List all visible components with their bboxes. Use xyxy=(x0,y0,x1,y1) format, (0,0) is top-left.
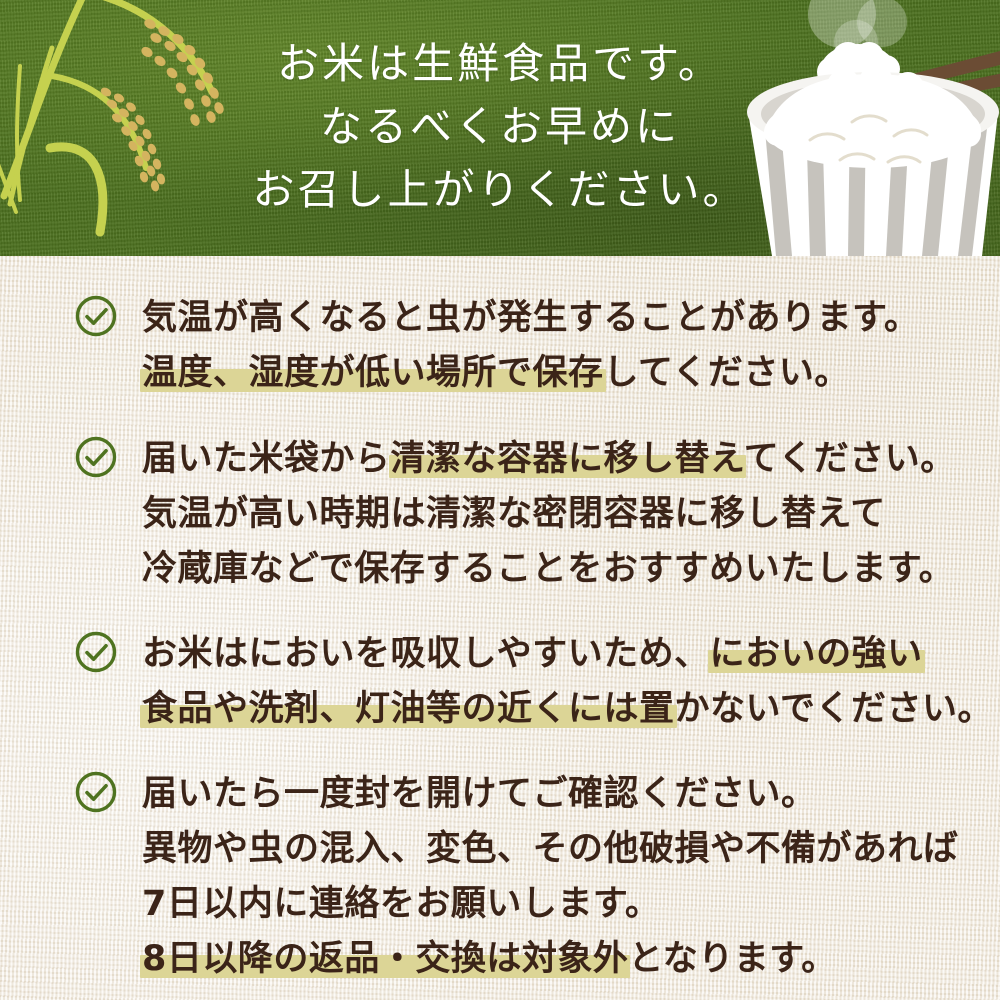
text-segment: 届いた米袋から xyxy=(142,439,391,479)
page-title: お米は生鮮食品です。なるべくお早めにお召し上がりください。 xyxy=(0,32,1000,221)
text-segment: してください。 xyxy=(604,353,850,393)
notice-item-4-line-3: 7日以内に連絡をお願いします。 xyxy=(142,877,974,932)
check-circle-icon xyxy=(74,435,118,479)
notice-item-2: 届いた米袋から清潔な容器に移し替えてください。気温が高い時期は清潔な密閉容器に移… xyxy=(74,401,974,597)
notice-item-1: 気温が高くなると虫が発生することがあります。温度、湿度が低い場所で保存してくださ… xyxy=(74,256,974,401)
notice-item-2-line-3: 冷蔵庫などで保存することをおすすめいたします。 xyxy=(142,542,974,597)
notice-item-3: お米はにおいを吸収しやすいため、においの強い食品や洗剤、灯油等の近くには置かない… xyxy=(74,597,974,737)
text-segment: 7日以内に連絡をお願いします。 xyxy=(142,884,660,924)
notice-item-3-line-1: お米はにおいを吸収しやすいため、においの強い xyxy=(142,627,974,682)
check-circle-icon xyxy=(74,294,118,338)
highlighted-text: 温度、湿度が低い場所で保存 xyxy=(142,353,604,393)
notice-item-3-line-2: 食品や洗剤、灯油等の近くには置かないでください。 xyxy=(142,682,974,737)
notice-item-4-line-1: 届いたら一度封を開けてご確認ください。 xyxy=(142,767,974,822)
header-title-line-2: なるべくお早めに xyxy=(0,95,1000,158)
text-segment: かないでください。 xyxy=(675,689,993,729)
notice-item-4-line-4: 8日以降の返品・交換は対象外となります。 xyxy=(142,932,974,987)
highlighted-text: 食品や洗剤、灯油等の近くには置 xyxy=(142,689,675,729)
check-circle-icon xyxy=(74,630,118,674)
text-segment: 届いたら一度封を開けてご確認ください。 xyxy=(142,774,817,814)
rice-storage-infographic: お米は生鮮食品です。なるべくお早めにお召し上がりください。 気温が高くなると虫が… xyxy=(0,0,1000,1000)
text-segment: てください。 xyxy=(744,439,956,479)
notice-list: 気温が高くなると虫が発生することがあります。温度、湿度が低い場所で保存してくださ… xyxy=(0,256,1000,1000)
text-segment: となります。 xyxy=(628,939,836,979)
text-segment: 気温が高い時期は清潔な密閉容器に移し替えて xyxy=(142,494,886,534)
highlighted-text: 清潔な容器に移し替え xyxy=(391,439,744,479)
notice-item-1-line-1: 気温が高くなると虫が発生することがあります。 xyxy=(142,291,974,346)
highlighted-text: においの強い xyxy=(710,634,923,674)
notice-item-2-line-2: 気温が高い時期は清潔な密閉容器に移し替えて xyxy=(142,487,974,542)
notice-item-4-line-2: 異物や虫の混入、変色、その他破損や不備があれば xyxy=(142,822,974,877)
header-title-line-1: お米は生鮮食品です。 xyxy=(0,32,1000,95)
check-circle-icon xyxy=(74,770,118,814)
text-segment: 異物や虫の混入、変色、その他破損や不備があれば xyxy=(142,829,959,869)
text-segment: 気温が高くなると虫が発生することがあります。 xyxy=(142,298,920,338)
text-segment: 冷蔵庫などで保存することをおすすめいたします。 xyxy=(142,549,954,589)
notice-item-1-line-2: 温度、湿度が低い場所で保存してください。 xyxy=(142,346,974,401)
header-title-line-3: お召し上がりください。 xyxy=(0,158,1000,221)
notice-item-4: 届いたら一度封を開けてご確認ください。異物や虫の混入、変色、その他破損や不備があ… xyxy=(74,737,974,987)
notice-item-2-line-1: 届いた米袋から清潔な容器に移し替えてください。 xyxy=(142,432,974,487)
header-banner: お米は生鮮食品です。なるべくお早めにお召し上がりください。 xyxy=(0,0,1000,256)
text-segment: お米はにおいを吸収しやすいため、 xyxy=(142,634,710,674)
highlighted-text: 8日以降の返品・交換は対象外 xyxy=(142,939,628,979)
